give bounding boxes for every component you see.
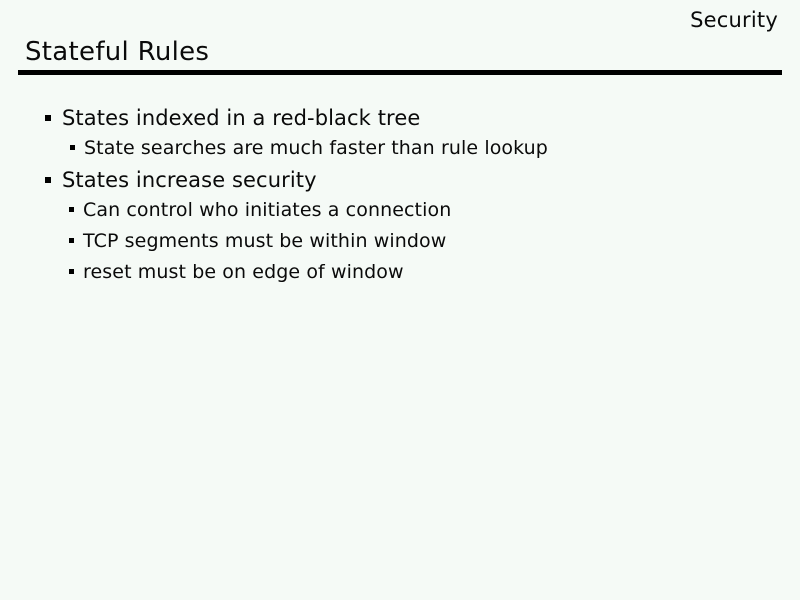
bullet-text: State searches are much faster than rule… xyxy=(84,135,548,161)
slide-title: Stateful Rules xyxy=(25,36,209,68)
square-bullet-icon xyxy=(45,177,51,183)
bullet-item-level1: States increase security xyxy=(0,166,800,197)
square-bullet-icon xyxy=(45,115,51,121)
bullet-item-level2: reset must be on edge of window xyxy=(0,259,800,290)
slide-header: Security xyxy=(378,8,778,33)
title-underline-rule xyxy=(18,70,782,75)
bullet-item-level2: State searches are much faster than rule… xyxy=(0,135,800,166)
bullet-text: Can control who initiates a connection xyxy=(83,197,451,223)
small-square-bullet-icon xyxy=(69,269,74,274)
slide-content-body: States indexed in a red-black tree State… xyxy=(0,104,800,290)
small-square-bullet-icon xyxy=(69,207,74,212)
bullet-text: States indexed in a red-black tree xyxy=(62,104,420,132)
small-square-bullet-icon xyxy=(69,238,74,243)
bullet-item-level1: States indexed in a red-black tree xyxy=(0,104,800,135)
bullet-text: reset must be on edge of window xyxy=(83,259,404,285)
header-section-label: Security xyxy=(690,8,778,32)
bullet-text: States increase security xyxy=(62,166,317,194)
presentation-slide: Security Stateful Rules States indexed i… xyxy=(0,0,800,600)
bullet-item-level2: Can control who initiates a connection xyxy=(0,197,800,228)
small-square-bullet-icon xyxy=(70,145,75,150)
bullet-item-level2: TCP segments must be within window xyxy=(0,228,800,259)
bullet-text: TCP segments must be within window xyxy=(83,228,446,254)
